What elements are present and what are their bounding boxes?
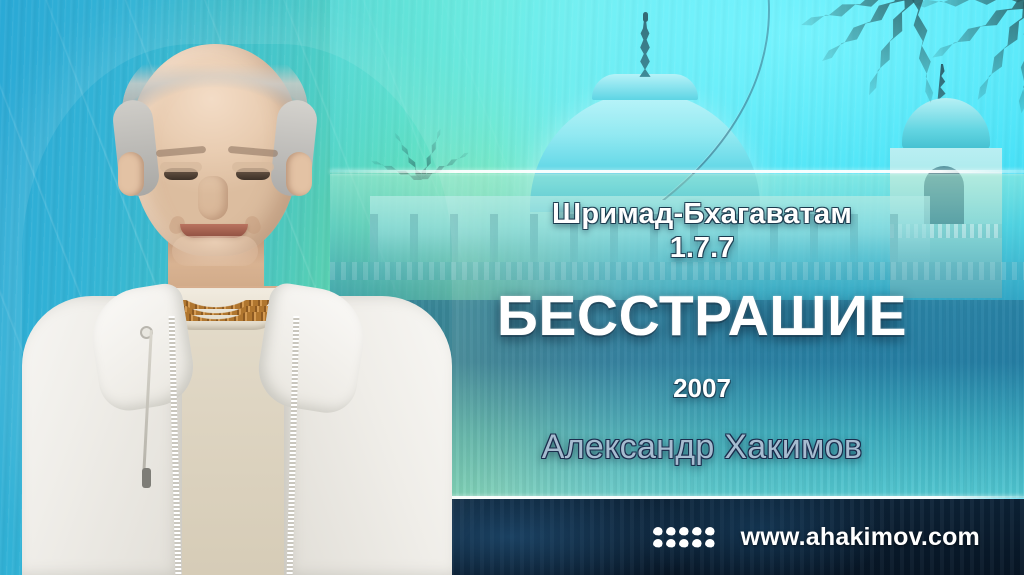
eyelid-left	[160, 162, 202, 172]
logo-dot	[653, 527, 663, 536]
chin	[172, 236, 258, 266]
speaker-name: Александр Хакимов	[542, 428, 862, 467]
logo-dot	[666, 539, 676, 548]
ear-left	[118, 152, 144, 196]
scripture-title: Шримад-Бхагаватам	[552, 198, 852, 230]
ear-right	[286, 152, 312, 196]
slide-canvas: Шримад-Бхагаватам 1.7.7 БЕССТРАШИЕ 2007 …	[0, 0, 1024, 575]
speaker-portrait	[22, 44, 452, 575]
ahakimov-dots-logo-icon[interactable]	[653, 527, 715, 548]
logo-dot	[679, 539, 689, 548]
lecture-headline: БЕССТРАШИЕ	[497, 288, 907, 345]
logo-dot	[653, 539, 663, 548]
title-block: Шримад-Бхагаватам 1.7.7 БЕССТРАШИЕ 2007 …	[380, 174, 1024, 496]
logo-dot	[705, 527, 715, 536]
logo-dot	[666, 527, 676, 536]
eyelid-right	[232, 162, 274, 172]
drawstring-tip	[142, 468, 151, 488]
logo-dot	[679, 527, 689, 536]
website-url[interactable]: www.ahakimov.com	[741, 523, 980, 552]
verse-reference: 1.7.7	[670, 231, 735, 266]
logo-dot	[692, 527, 702, 536]
logo-dot	[705, 539, 715, 548]
nose	[198, 176, 228, 220]
logo-dot	[692, 539, 702, 548]
lecture-year: 2007	[673, 373, 731, 404]
